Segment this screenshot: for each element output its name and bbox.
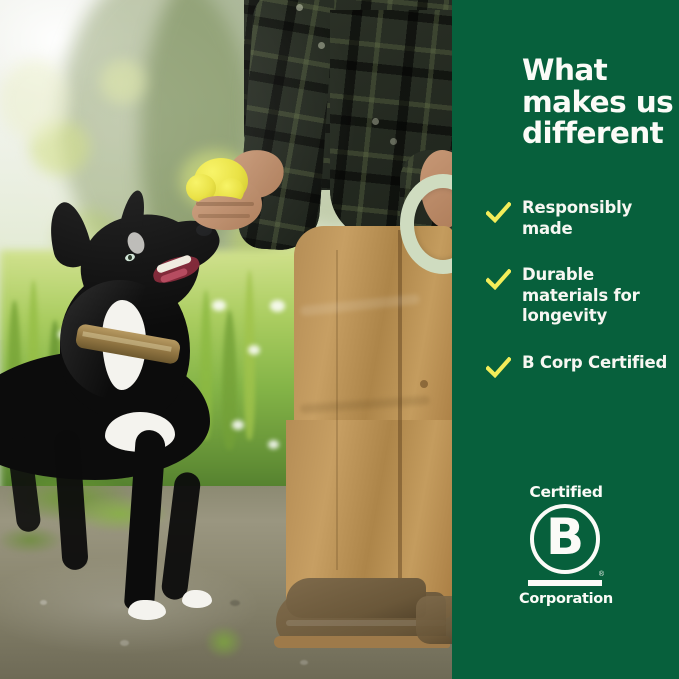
list-item: Durable materials for longevity [486, 265, 676, 327]
product-lifestyle-photo [0, 0, 453, 679]
bcorp-divider: ® [528, 580, 602, 586]
check-icon [486, 202, 511, 223]
list-item: B Corp Certified [486, 353, 676, 374]
list-item: Responsibly made [486, 198, 676, 239]
check-icon [486, 357, 511, 378]
list-item-label: Durable materials for longevity [522, 265, 676, 327]
bcorp-circle-b: B [519, 504, 613, 578]
ad-creative: What makes us different Responsibly made… [0, 0, 679, 679]
registered-trademark-icon: ® [599, 571, 604, 578]
benefits-list: Responsibly made Durable materials for l… [486, 198, 676, 399]
bcorp-certified-logo: Certified B ® Corporation [519, 483, 613, 615]
check-icon [486, 269, 511, 290]
list-item-label: Responsibly made [522, 198, 676, 239]
bcorp-top-label: Certified [519, 483, 613, 501]
page-title: What makes us different [522, 55, 677, 150]
bcorp-bottom-label: Corporation [519, 591, 613, 608]
bcorp-letter: B [530, 504, 600, 574]
list-item-label: B Corp Certified [522, 353, 676, 374]
